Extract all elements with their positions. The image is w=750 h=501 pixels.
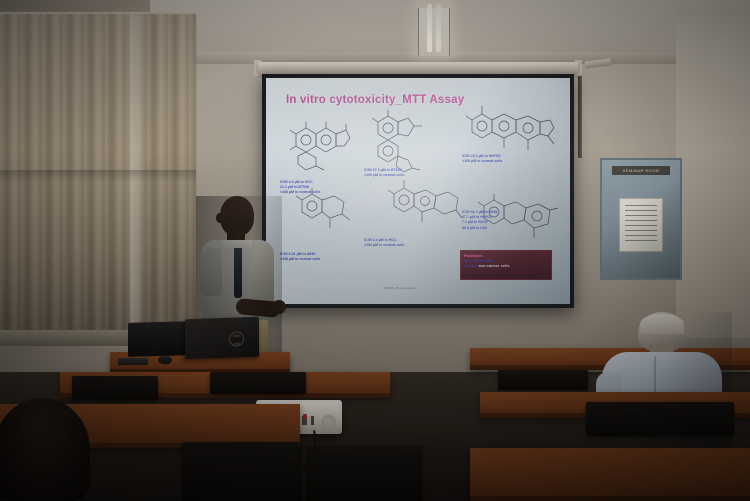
ic50-caption-hepg2: IC50 23.0 µM in HePG2 >100 µM in normal …	[462, 154, 502, 164]
curtain-fold-shadow	[0, 170, 196, 182]
foreground-desk-right	[470, 448, 750, 501]
presenter-sleeve	[200, 248, 222, 296]
paclitaxel-note: normal and cancer cells	[464, 263, 548, 268]
mouse[interactable]	[158, 356, 172, 364]
light-mount	[416, 0, 452, 8]
paclitaxel-callout-box: Paclitaxel 13.2 µM in both normal and ca…	[460, 250, 552, 280]
molecule-structure-2	[370, 108, 432, 174]
fluorescent-tube-second	[436, 4, 441, 52]
notice-board-shadow	[602, 160, 680, 278]
presentation-slide: In vitro cytotoxicity_MTT Assay	[266, 78, 570, 304]
projector-indicator-light	[303, 414, 307, 419]
foreground-attendee	[0, 398, 90, 501]
ic50-caption-a549-641: IC50 6.41 µM in A549 >100 µM in normal c…	[280, 252, 320, 262]
projector-vent	[321, 415, 336, 430]
chair-back[interactable]	[306, 446, 422, 501]
ic50-line: 30.6 µM in U20	[462, 226, 498, 231]
slide-footer: UNIPD_Presentation	[384, 286, 415, 290]
presenter-tie	[234, 248, 242, 298]
wall-conduit	[578, 62, 582, 158]
chair-back[interactable]	[72, 376, 158, 400]
screen-roller-case	[258, 62, 578, 74]
projection-screen: In vitro cytotoxicity_MTT Assay	[266, 78, 570, 304]
chair-back[interactable]	[498, 370, 588, 390]
ic50-line: >100 µM in normal cells	[364, 243, 404, 248]
ic50-caption-hcc-2-4: IC50 2.4 µM in HCC >100 µM in normal cel…	[364, 238, 404, 248]
molecule-structure-1	[280, 114, 354, 174]
external-monitor	[128, 321, 190, 357]
slide-title: In vitro cytotoxicity_MTT Assay	[286, 94, 464, 106]
molecule-structure-4	[384, 178, 464, 230]
paclitaxel-note-rest: and cancer cells	[477, 263, 509, 268]
chair-back[interactable]	[586, 402, 734, 436]
ceiling-light-icon	[418, 0, 450, 56]
chair-back[interactable]	[210, 372, 306, 394]
ic50-caption-hcc-bt549: IC50 4.4 µM in HCC 21.1 µM in BT549 >100…	[280, 180, 320, 196]
chair-back[interactable]	[182, 442, 302, 501]
attendee-grey-hair	[640, 314, 684, 334]
molecule-structure-3	[462, 102, 556, 160]
laptop[interactable]	[185, 317, 259, 360]
door-frame	[676, 8, 750, 338]
desk-edge	[470, 496, 750, 501]
presenter-ear	[216, 213, 223, 223]
ic50-line: >100 µM in normal cells	[462, 159, 502, 164]
ic50-caption-a549-multi: IC50 94.7 µM in A549, 67.7 µM in HePG2 7…	[462, 210, 498, 231]
ic50-line: >100 µM in normal cells	[280, 190, 320, 195]
keyboard[interactable]	[118, 358, 148, 365]
fluorescent-tube	[427, 4, 432, 52]
ic50-line: >100 µM in normal cells	[280, 257, 320, 262]
paclitaxel-note-highlight: normal	[464, 263, 477, 268]
presenter-hand	[272, 300, 286, 314]
ic50-caption-bt549: IC50 67.0 µM in BT549 >100 µM in normal …	[364, 168, 404, 178]
notice-board: SEMINAR ROOM	[600, 158, 682, 280]
lecture-room-photo: SEMINAR ROOM In vitro cytotoxicity_MTT A…	[0, 0, 750, 501]
ic50-line: >100 µM in normal cells	[364, 173, 404, 178]
hp-logo-icon	[229, 331, 244, 347]
